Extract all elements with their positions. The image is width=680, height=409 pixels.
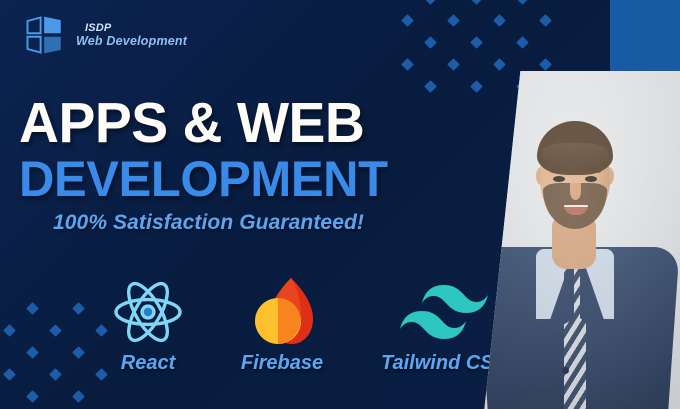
- brand-name-line-1: ISDP: [76, 22, 187, 34]
- isdp-cube-logo-icon: [24, 14, 66, 56]
- react-icon-wrap: [112, 276, 184, 348]
- tailwind-waves-icon: [396, 281, 492, 343]
- brand-name-line-2: Web Development: [76, 34, 187, 48]
- subject-eye-right: [585, 176, 597, 182]
- subject-eye-left: [553, 176, 565, 182]
- subject-jacket-button: [562, 367, 569, 374]
- subject-nose: [570, 183, 581, 200]
- tech-label-tailwind: Tailwind CSS: [381, 352, 507, 375]
- tech-stack-row: React Firebase Tailwind CSS: [96, 276, 524, 375]
- tech-label-react: React: [121, 352, 175, 375]
- firebase-icon-wrap: [247, 276, 317, 348]
- accent-band-top-right: [610, 0, 680, 73]
- headline-block: APPS & WEB DEVELOPMENT 100% Satisfaction…: [19, 96, 449, 235]
- tech-item-firebase[interactable]: Firebase: [226, 276, 338, 375]
- subject-hair: [537, 121, 613, 175]
- firebase-flame-icon: [247, 276, 317, 348]
- headline-line-1: APPS & WEB: [19, 96, 436, 151]
- tech-item-react[interactable]: React: [96, 276, 200, 375]
- headline-line-2: DEVELOPMENT: [19, 154, 440, 204]
- react-atom-icon: [112, 279, 184, 345]
- tech-label-firebase: Firebase: [241, 352, 323, 375]
- headline-tagline: 100% Satisfaction Guaranteed!: [53, 211, 449, 235]
- promo-thumbnail: ISDP Web Development APPS & WEB DEVELOPM…: [0, 0, 680, 409]
- tailwind-icon-wrap: [396, 276, 492, 348]
- brand-logo[interactable]: ISDP Web Development: [24, 14, 187, 56]
